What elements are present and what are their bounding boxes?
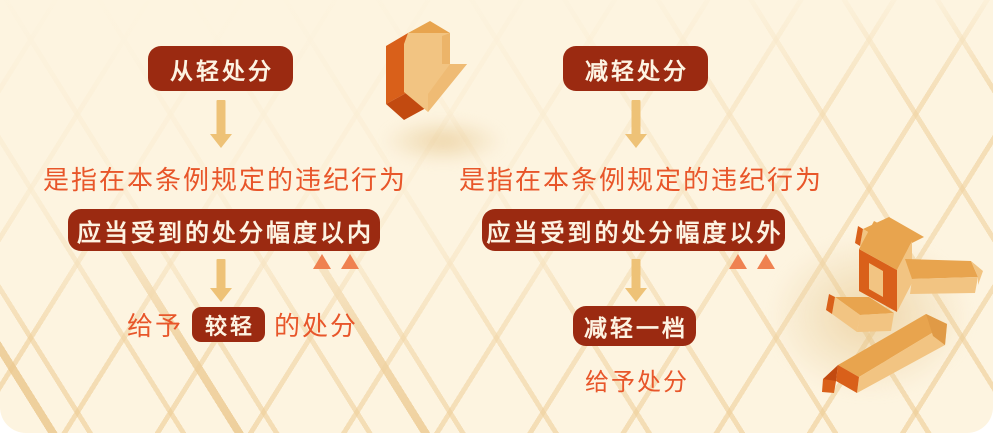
left-marker-triangle-2 bbox=[341, 254, 359, 269]
left-result-suffix: 的处分 bbox=[274, 306, 358, 343]
gavel-3d-icon bbox=[793, 193, 993, 403]
right-arrow-title-to-definition bbox=[624, 100, 648, 148]
left-result-highlight-badge: 较轻 bbox=[192, 307, 265, 342]
left-scope-badge: 应当受到的处分幅度以内 bbox=[68, 209, 380, 251]
right-marker-triangle-1 bbox=[729, 254, 747, 269]
down-arrow-3d-icon bbox=[374, 16, 478, 128]
left-marker-triangle-1 bbox=[313, 254, 331, 269]
left-arrow-title-to-definition bbox=[209, 100, 233, 148]
right-definition-text: 是指在本条例规定的违纪行为 bbox=[459, 160, 823, 197]
left-result-prefix: 给予 bbox=[127, 306, 183, 343]
right-scope-badge: 应当受到的处分幅度以外 bbox=[482, 209, 785, 251]
right-title-badge: 减轻处分 bbox=[563, 46, 708, 91]
infographic-canvas: 从轻处分 是指在本条例规定的违纪行为 应当受到的处分幅度以内 给予 较轻 的处分… bbox=[0, 0, 993, 433]
right-arrow-scope-to-result bbox=[624, 259, 648, 302]
left-definition-text: 是指在本条例规定的违纪行为 bbox=[43, 160, 407, 197]
left-result-line: 给予 较轻 的处分 bbox=[127, 306, 358, 343]
right-marker-triangle-2 bbox=[757, 254, 775, 269]
right-result-badge: 减轻一档 bbox=[573, 306, 696, 346]
right-result-caption: 给予处分 bbox=[585, 362, 689, 397]
left-title-badge: 从轻处分 bbox=[148, 46, 293, 91]
left-arrow-scope-to-result bbox=[209, 259, 233, 302]
